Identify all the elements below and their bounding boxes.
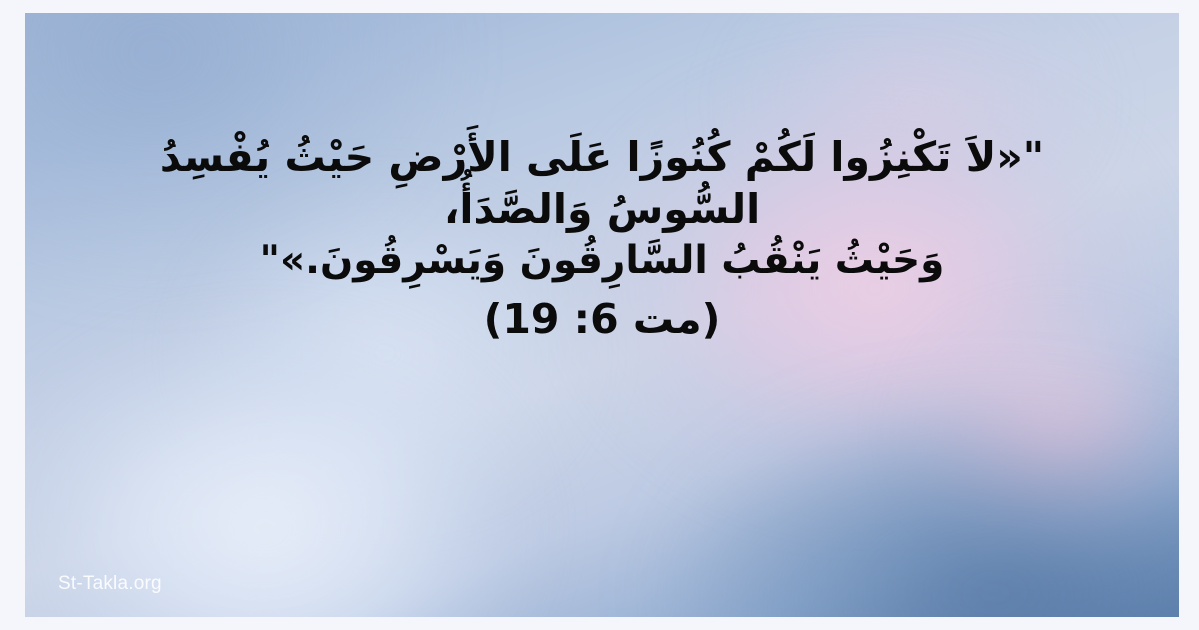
verse-card: "«لاَ تَكْنِزُوا لَكُمْ كُنُوزًا عَلَى ا… bbox=[0, 0, 1199, 630]
bokeh-blob-white-lower-left bbox=[25, 313, 545, 617]
verse-line-2: السُّوسُ وَالصَّدَأُ، bbox=[25, 183, 1179, 235]
verse-line-3: وَحَيْثُ يَنْقُبُ السَّارِقُونَ وَيَسْرِ… bbox=[25, 236, 1179, 286]
watermark-st-takla: St-Takla.org bbox=[58, 573, 162, 595]
verse-line-1: "«لاَ تَكْنِزُوا لَكُمْ كُنُوزًا عَلَى ا… bbox=[25, 131, 1179, 183]
verse-text-block: "«لاَ تَكْنِزُوا لَكُمْ كُنُوزًا عَلَى ا… bbox=[25, 131, 1179, 349]
background-photo: "«لاَ تَكْنِزُوا لَكُمْ كُنُوزًا عَلَى ا… bbox=[25, 13, 1179, 617]
bokeh-blob-dark-bottom-right bbox=[645, 383, 1179, 617]
verse-reference: (مت 6: 19) bbox=[25, 290, 1179, 349]
